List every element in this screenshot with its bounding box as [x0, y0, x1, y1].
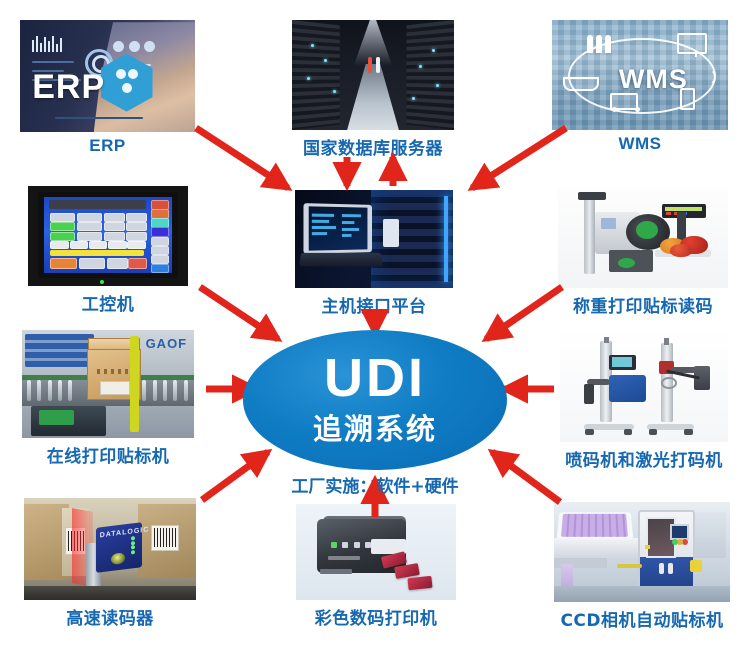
- arrow-erp-to-host: [196, 128, 288, 188]
- udi-subtitle: 工厂实施：软件+硬件: [0, 472, 750, 497]
- arrow-weigh-to-center: [486, 287, 562, 339]
- udi-title-cn: 追溯系统: [313, 406, 437, 448]
- arrow-wms-to-host: [472, 128, 566, 188]
- arrow-ipc-to-center: [200, 287, 278, 339]
- arrow-layer: [0, 0, 750, 650]
- udi-title-en: UDI: [324, 352, 426, 405]
- diagram-canvas: UDI 追溯系统 工厂实施：软件+硬件: [0, 0, 750, 650]
- udi-center-node: UDI 追溯系统: [243, 330, 507, 470]
